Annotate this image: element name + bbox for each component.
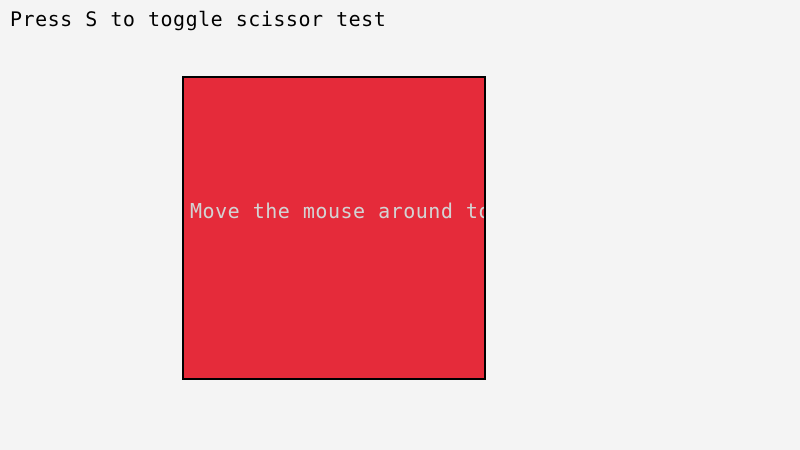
scissor-fill — [184, 78, 484, 378]
scissor-test-canvas: Press S to toggle scissor test Move the … — [0, 0, 800, 450]
scissor-rectangle[interactable]: Move the mouse around to reveal this tex… — [182, 76, 486, 380]
instruction-text: Press S to toggle scissor test — [10, 8, 386, 30]
clipped-message-text: Move the mouse around to reveal this tex… — [190, 200, 486, 222]
